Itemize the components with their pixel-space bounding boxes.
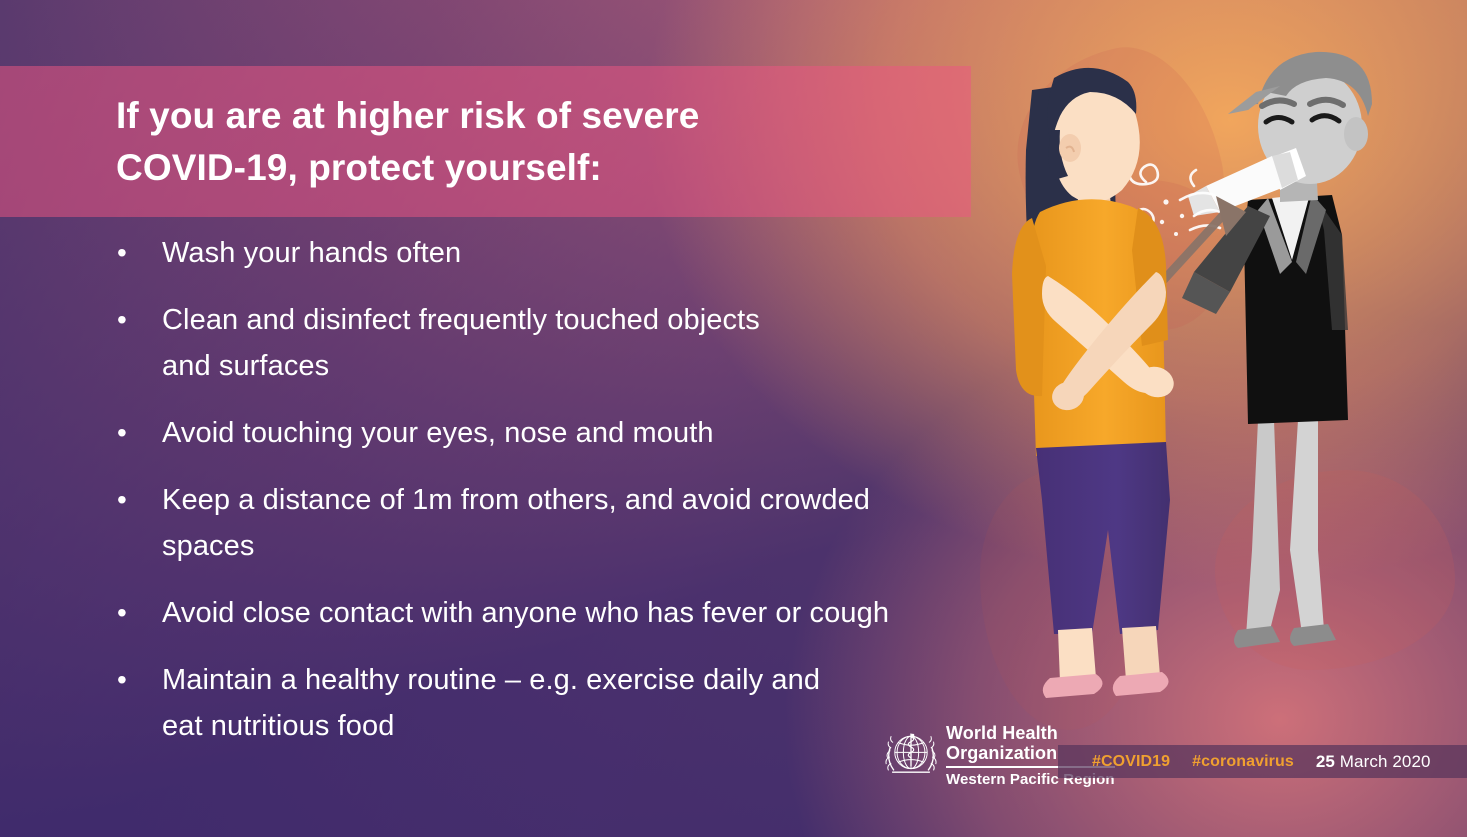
illustration-social-distancing [980, 30, 1467, 750]
man-sneezing-figure [1182, 52, 1372, 648]
bullet-marker-icon: • [112, 590, 162, 636]
title-banner: If you are at higher risk of severe COVI… [0, 66, 971, 217]
footer-bar: #COVID19 #coronavirus 25 March 2020 [1058, 745, 1467, 778]
hashtag-covid19[interactable]: #COVID19 [1092, 753, 1170, 771]
who-emblem-icon [884, 727, 938, 785]
publication-date: 25 March 2020 [1316, 752, 1431, 772]
list-item-label: Maintain a healthy routine – e.g. exerci… [162, 657, 820, 749]
list-item: • Avoid touching your eyes, nose and mou… [112, 410, 1042, 456]
date-month-year: March 2020 [1335, 752, 1431, 771]
page-title: If you are at higher risk of severe COVI… [116, 90, 699, 192]
background-blob [1060, 180, 1230, 330]
list-item: • Clean and disinfect frequently touched… [112, 297, 1042, 389]
bullet-marker-icon: • [112, 410, 162, 456]
list-item: • Keep a distance of 1m from others, and… [112, 477, 1042, 569]
bullet-marker-icon: • [112, 477, 162, 523]
date-day: 25 [1316, 752, 1335, 771]
bullet-marker-icon: • [112, 657, 162, 703]
list-item: • Avoid close contact with anyone who ha… [112, 590, 1042, 636]
who-name-line1: World Health [946, 723, 1115, 743]
bullet-marker-icon: • [112, 230, 162, 276]
sneeze-swirls [1126, 165, 1222, 236]
list-item: • Wash your hands often [112, 230, 1042, 276]
tissue [1188, 148, 1306, 216]
advice-bullet-list: • Wash your hands often • Clean and disi… [112, 230, 1042, 770]
background-blob [1215, 470, 1455, 670]
distance-arrow [1092, 196, 1246, 350]
list-item-label: Clean and disinfect frequently touched o… [162, 297, 760, 389]
hashtag-coronavirus[interactable]: #coronavirus [1192, 753, 1294, 771]
list-item-label: Avoid close contact with anyone who has … [162, 590, 889, 636]
bullet-marker-icon: • [112, 297, 162, 343]
list-item-label: Keep a distance of 1m from others, and a… [162, 477, 870, 569]
list-item-label: Wash your hands often [162, 230, 461, 276]
list-item-label: Avoid touching your eyes, nose and mouth [162, 410, 714, 456]
infographic-slide: If you are at higher risk of severe COVI… [0, 0, 1467, 837]
